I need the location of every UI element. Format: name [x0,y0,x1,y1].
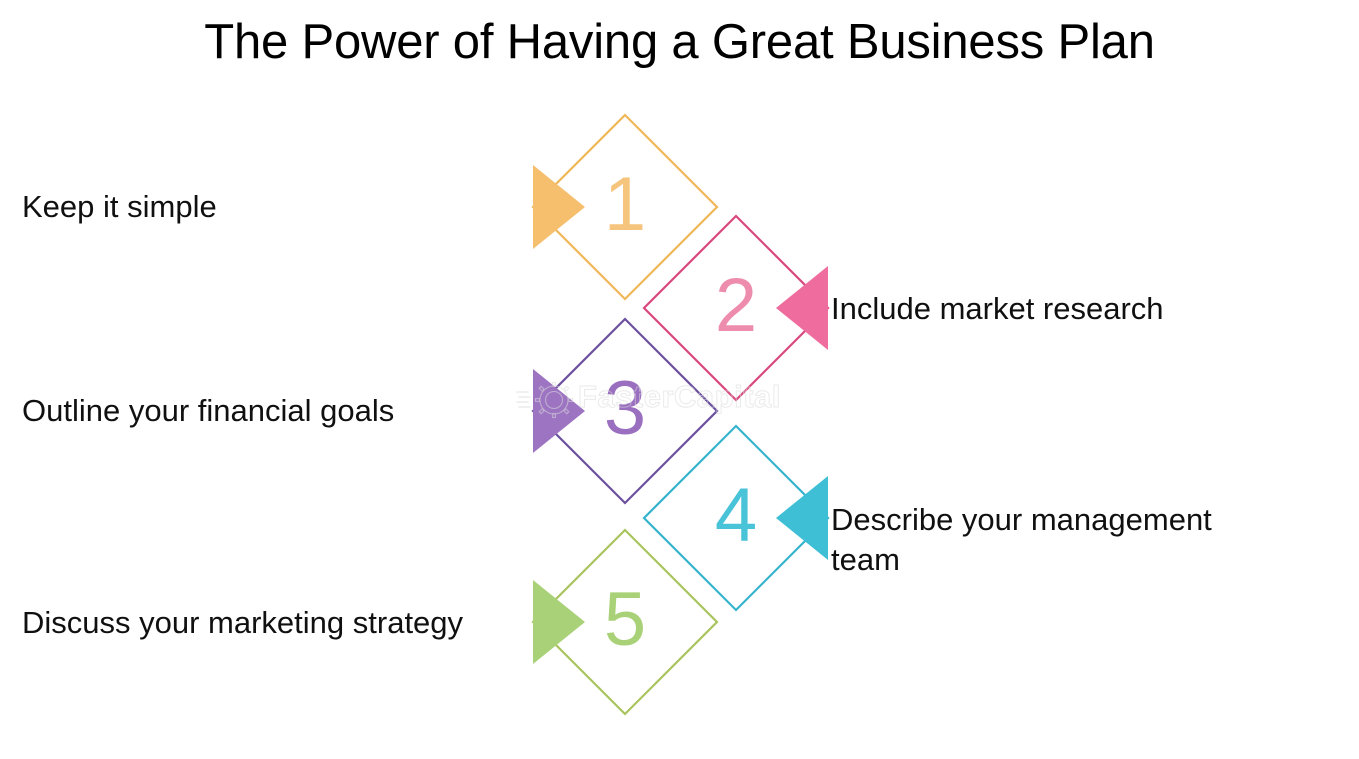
step-label-3: Outline your financial goals [22,391,502,431]
diamond-shape-5 [527,524,723,720]
step-label-5: Discuss your marketing strategy [22,603,542,643]
diamond-chain-diagram: 1 Keep it simple 2 Include market resear… [0,0,1359,759]
step-label-4: Describe your management team [831,500,1281,581]
step-label-2: Include market research [831,289,1331,329]
step-label-1: Keep it simple [22,187,492,227]
